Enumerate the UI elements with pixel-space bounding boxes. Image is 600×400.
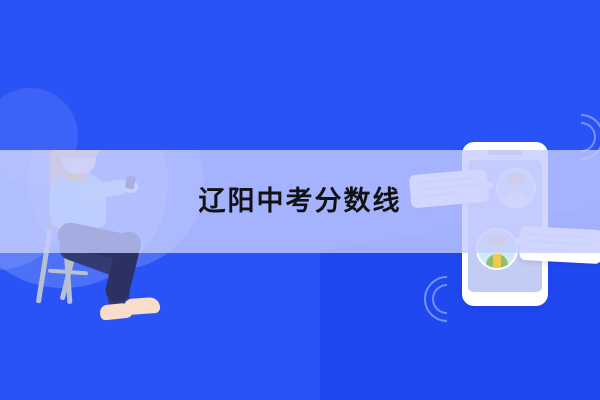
banner-container: 辽阳中考分数线	[0, 0, 600, 400]
avatar-body	[486, 254, 508, 268]
banner-title: 辽阳中考分数线	[199, 188, 402, 215]
title-band: 辽阳中考分数线	[0, 150, 600, 253]
woman-near-shoe	[123, 297, 160, 315]
